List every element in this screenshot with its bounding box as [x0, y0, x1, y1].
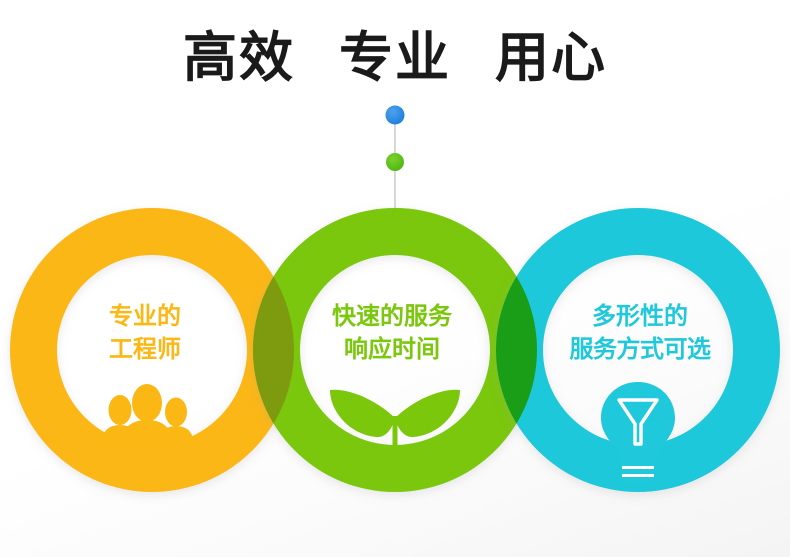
- overlap-green-cyan: [0, 0, 790, 557]
- venn-diagram: [0, 0, 790, 557]
- infographic-canvas: 高效专业用心: [0, 0, 790, 557]
